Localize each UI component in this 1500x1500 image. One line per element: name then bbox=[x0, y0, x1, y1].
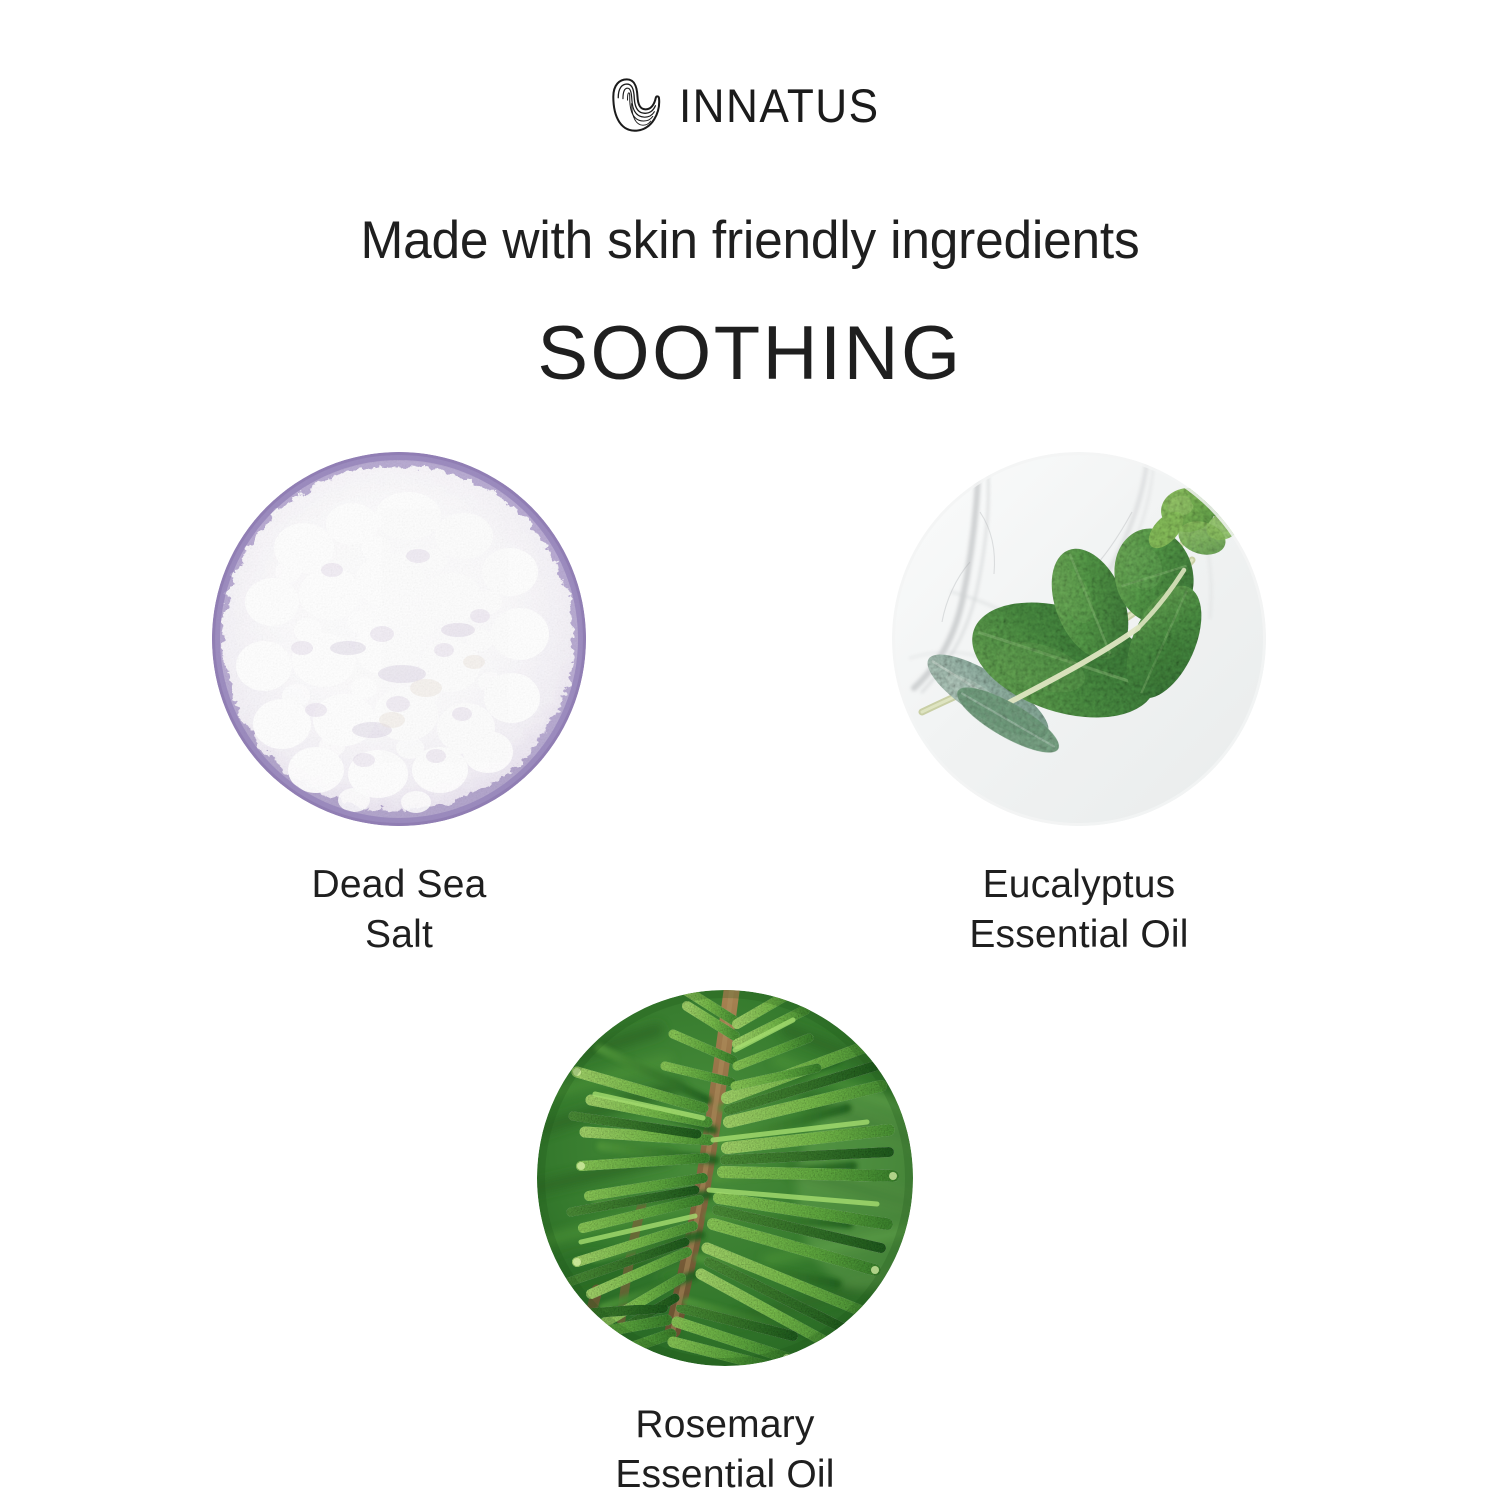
infographic-page: INNATUS Made with skin friendly ingredie… bbox=[0, 0, 1500, 1500]
ingredient-card-eucalyptus: Eucalyptus Essential Oil bbox=[892, 452, 1266, 960]
eucalyptus-sprig-photo bbox=[892, 452, 1266, 826]
leaf-wave-logo-icon bbox=[607, 77, 665, 133]
rosemary-needles-photo bbox=[537, 990, 913, 1366]
ingredient-card-rosemary: Rosemary Essential Oil bbox=[537, 990, 913, 1500]
dead-sea-salt-photo bbox=[212, 452, 586, 826]
page-title: SOOTHING bbox=[0, 312, 1500, 396]
brand-header: INNATUS bbox=[0, 72, 1500, 138]
ingredient-caption-salt: Dead Sea Salt bbox=[311, 860, 486, 960]
ingredient-caption-rosemary: Rosemary Essential Oil bbox=[615, 1400, 834, 1500]
ingredient-card-salt: Dead Sea Salt bbox=[212, 452, 586, 960]
brand-name: INNATUS bbox=[679, 82, 880, 129]
ingredient-caption-eucalyptus: Eucalyptus Essential Oil bbox=[969, 860, 1188, 960]
subheadline: Made with skin friendly ingredients bbox=[23, 212, 1478, 269]
